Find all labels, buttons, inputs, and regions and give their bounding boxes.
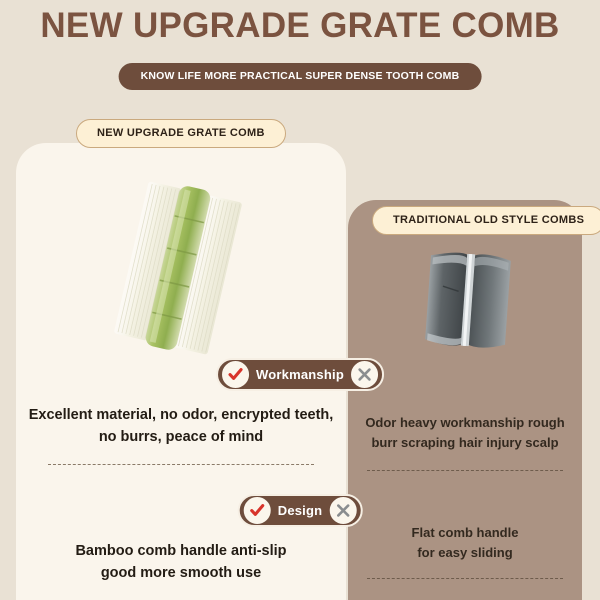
badge-label: Workmanship	[250, 367, 350, 382]
check-icon	[243, 496, 272, 525]
comparison-badge-design: Design	[238, 494, 363, 527]
feature-line: no burrs, peace of mind	[16, 426, 346, 448]
cross-icon	[328, 496, 357, 525]
steel-comb-image	[412, 248, 524, 352]
cross-icon	[350, 360, 379, 389]
check-icon	[221, 360, 250, 389]
traditional-product-badge: TRADITIONAL OLD STYLE COMBS	[372, 206, 600, 235]
feature-line: for easy sliding	[348, 543, 582, 563]
feature-line: Odor heavy workmanship rough	[348, 413, 582, 433]
feature-line: Excellent material, no odor, encrypted t…	[16, 404, 346, 426]
feature-line: Flat comb handle	[348, 523, 582, 543]
feature-line: Bamboo comb handle anti-slip	[16, 540, 346, 562]
traditional-product-feature-2: Flat comb handle for easy sliding	[348, 523, 582, 563]
feature-line: good more smooth use	[16, 562, 346, 584]
feature-line: burr scraping hair injury scalp	[348, 433, 582, 453]
page-title: NEW UPGRADE GRATE COMB	[0, 6, 600, 46]
divider	[48, 464, 314, 465]
divider	[367, 470, 563, 471]
traditional-product-feature-1: Odor heavy workmanship rough burr scrapi…	[348, 413, 582, 453]
infographic-page: NEW UPGRADE GRATE COMB KNOW LIFE MORE PR…	[0, 0, 600, 600]
new-product-feature-1: Excellent material, no odor, encrypted t…	[16, 404, 346, 449]
new-product-feature-2: Bamboo comb handle anti-slip good more s…	[16, 540, 346, 585]
subtitle-badge: KNOW LIFE MORE PRACTICAL SUPER DENSE TOO…	[119, 63, 482, 90]
bamboo-comb-image	[88, 178, 268, 358]
badge-label: Design	[272, 503, 329, 518]
comparison-badge-workmanship: Workmanship	[216, 358, 384, 391]
divider	[367, 578, 563, 579]
new-product-badge: NEW UPGRADE GRATE COMB	[76, 119, 286, 148]
